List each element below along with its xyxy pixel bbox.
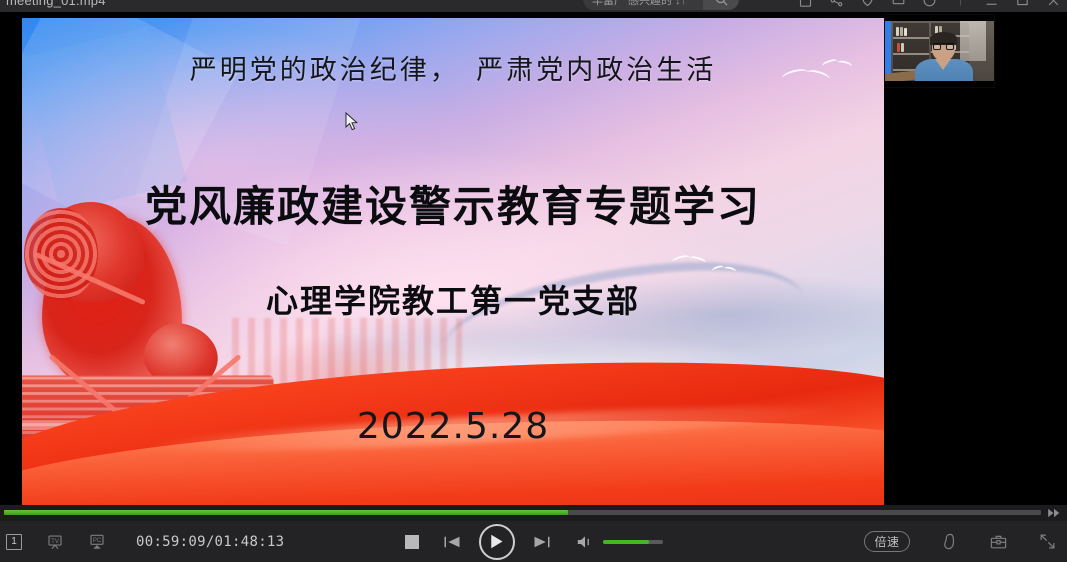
pip-glasses-icon (933, 43, 954, 49)
play-triangle-icon (489, 534, 504, 549)
search-input[interactable]: 丰富产 感兴趣的 ↓↑ (583, 0, 703, 10)
page-count-badge[interactable]: 1 (6, 534, 22, 550)
stop-button[interactable] (405, 535, 419, 549)
svg-text:PC: PC (93, 538, 102, 544)
tv-cast-icon[interactable]: TV (46, 533, 64, 551)
minimize-icon[interactable] (984, 0, 999, 8)
favorite-heart-icon[interactable] (860, 0, 875, 8)
play-button[interactable] (479, 524, 515, 560)
snapshot-icon[interactable] (940, 532, 959, 551)
toolbar-divider (953, 0, 968, 8)
svg-text:TV: TV (51, 538, 59, 544)
previous-button[interactable] (443, 534, 461, 550)
player-control-bar: 1 TV PC 00:59:09/01:48:13 (0, 521, 1067, 562)
progress-row (0, 505, 1067, 521)
pip-window (960, 21, 986, 61)
video-stage[interactable]: 严明党的政治纪律， 严肃党内政治生活 党风廉政建设警示教育专题学习 心理学院教工… (0, 12, 1067, 505)
seek-bar[interactable] (4, 510, 1041, 515)
restore-window-icon[interactable] (1015, 0, 1030, 8)
mouse-cursor (345, 112, 359, 132)
search-button[interactable] (703, 0, 739, 10)
history-circle-icon[interactable] (922, 0, 937, 8)
search-icon (714, 0, 729, 7)
volume-button[interactable] (575, 534, 595, 550)
fast-forward-icon[interactable] (1047, 508, 1061, 518)
file-title: meeting_01.mp4 (6, 0, 106, 8)
next-button[interactable] (533, 534, 551, 550)
presentation-slide: 严明党的政治纪律， 严肃党内政治生活 党风廉政建设警示教育专题学习 心理学院教工… (22, 18, 884, 505)
note-icon[interactable] (798, 0, 813, 8)
close-icon[interactable] (1046, 0, 1061, 8)
window-title-bar: meeting_01.mp4 丰富产 感兴趣的 ↓↑ (0, 0, 1067, 12)
volume-slider[interactable] (603, 540, 663, 544)
slide-date: 2022.5.28 (22, 406, 884, 447)
slide-headline: 严明党的政治纪律， 严肃党内政治生活 (22, 48, 884, 87)
fullscreen-icon[interactable] (1038, 532, 1057, 551)
slide-title: 党风廉政建设警示教育专题学习 (22, 173, 884, 234)
webcam-pip[interactable] (884, 14, 995, 88)
video-player-window: meeting_01.mp4 丰富产 感兴趣的 ↓↑ (0, 0, 1067, 562)
slide-subtitle: 心理学院教工第一党支部 (22, 276, 884, 322)
seek-bar-fill (4, 510, 568, 515)
pc-cast-icon[interactable]: PC (88, 533, 106, 551)
search-input-value: 丰富产 感兴趣的 ↓↑ (592, 0, 686, 8)
playback-speed-button[interactable]: 倍速 (864, 531, 910, 552)
control-bar-right: 倍速 (864, 521, 1067, 562)
control-bar-left: 1 TV PC 00:59:09/01:48:13 (0, 521, 284, 562)
timecode-display: 00:59:09/01:48:13 (136, 534, 284, 550)
cast-icon[interactable] (891, 0, 906, 8)
share-icon[interactable] (829, 0, 844, 8)
volume-slider-fill (603, 540, 650, 544)
window-toolbar-icons (798, 0, 1061, 11)
toolbox-icon[interactable] (989, 532, 1008, 551)
